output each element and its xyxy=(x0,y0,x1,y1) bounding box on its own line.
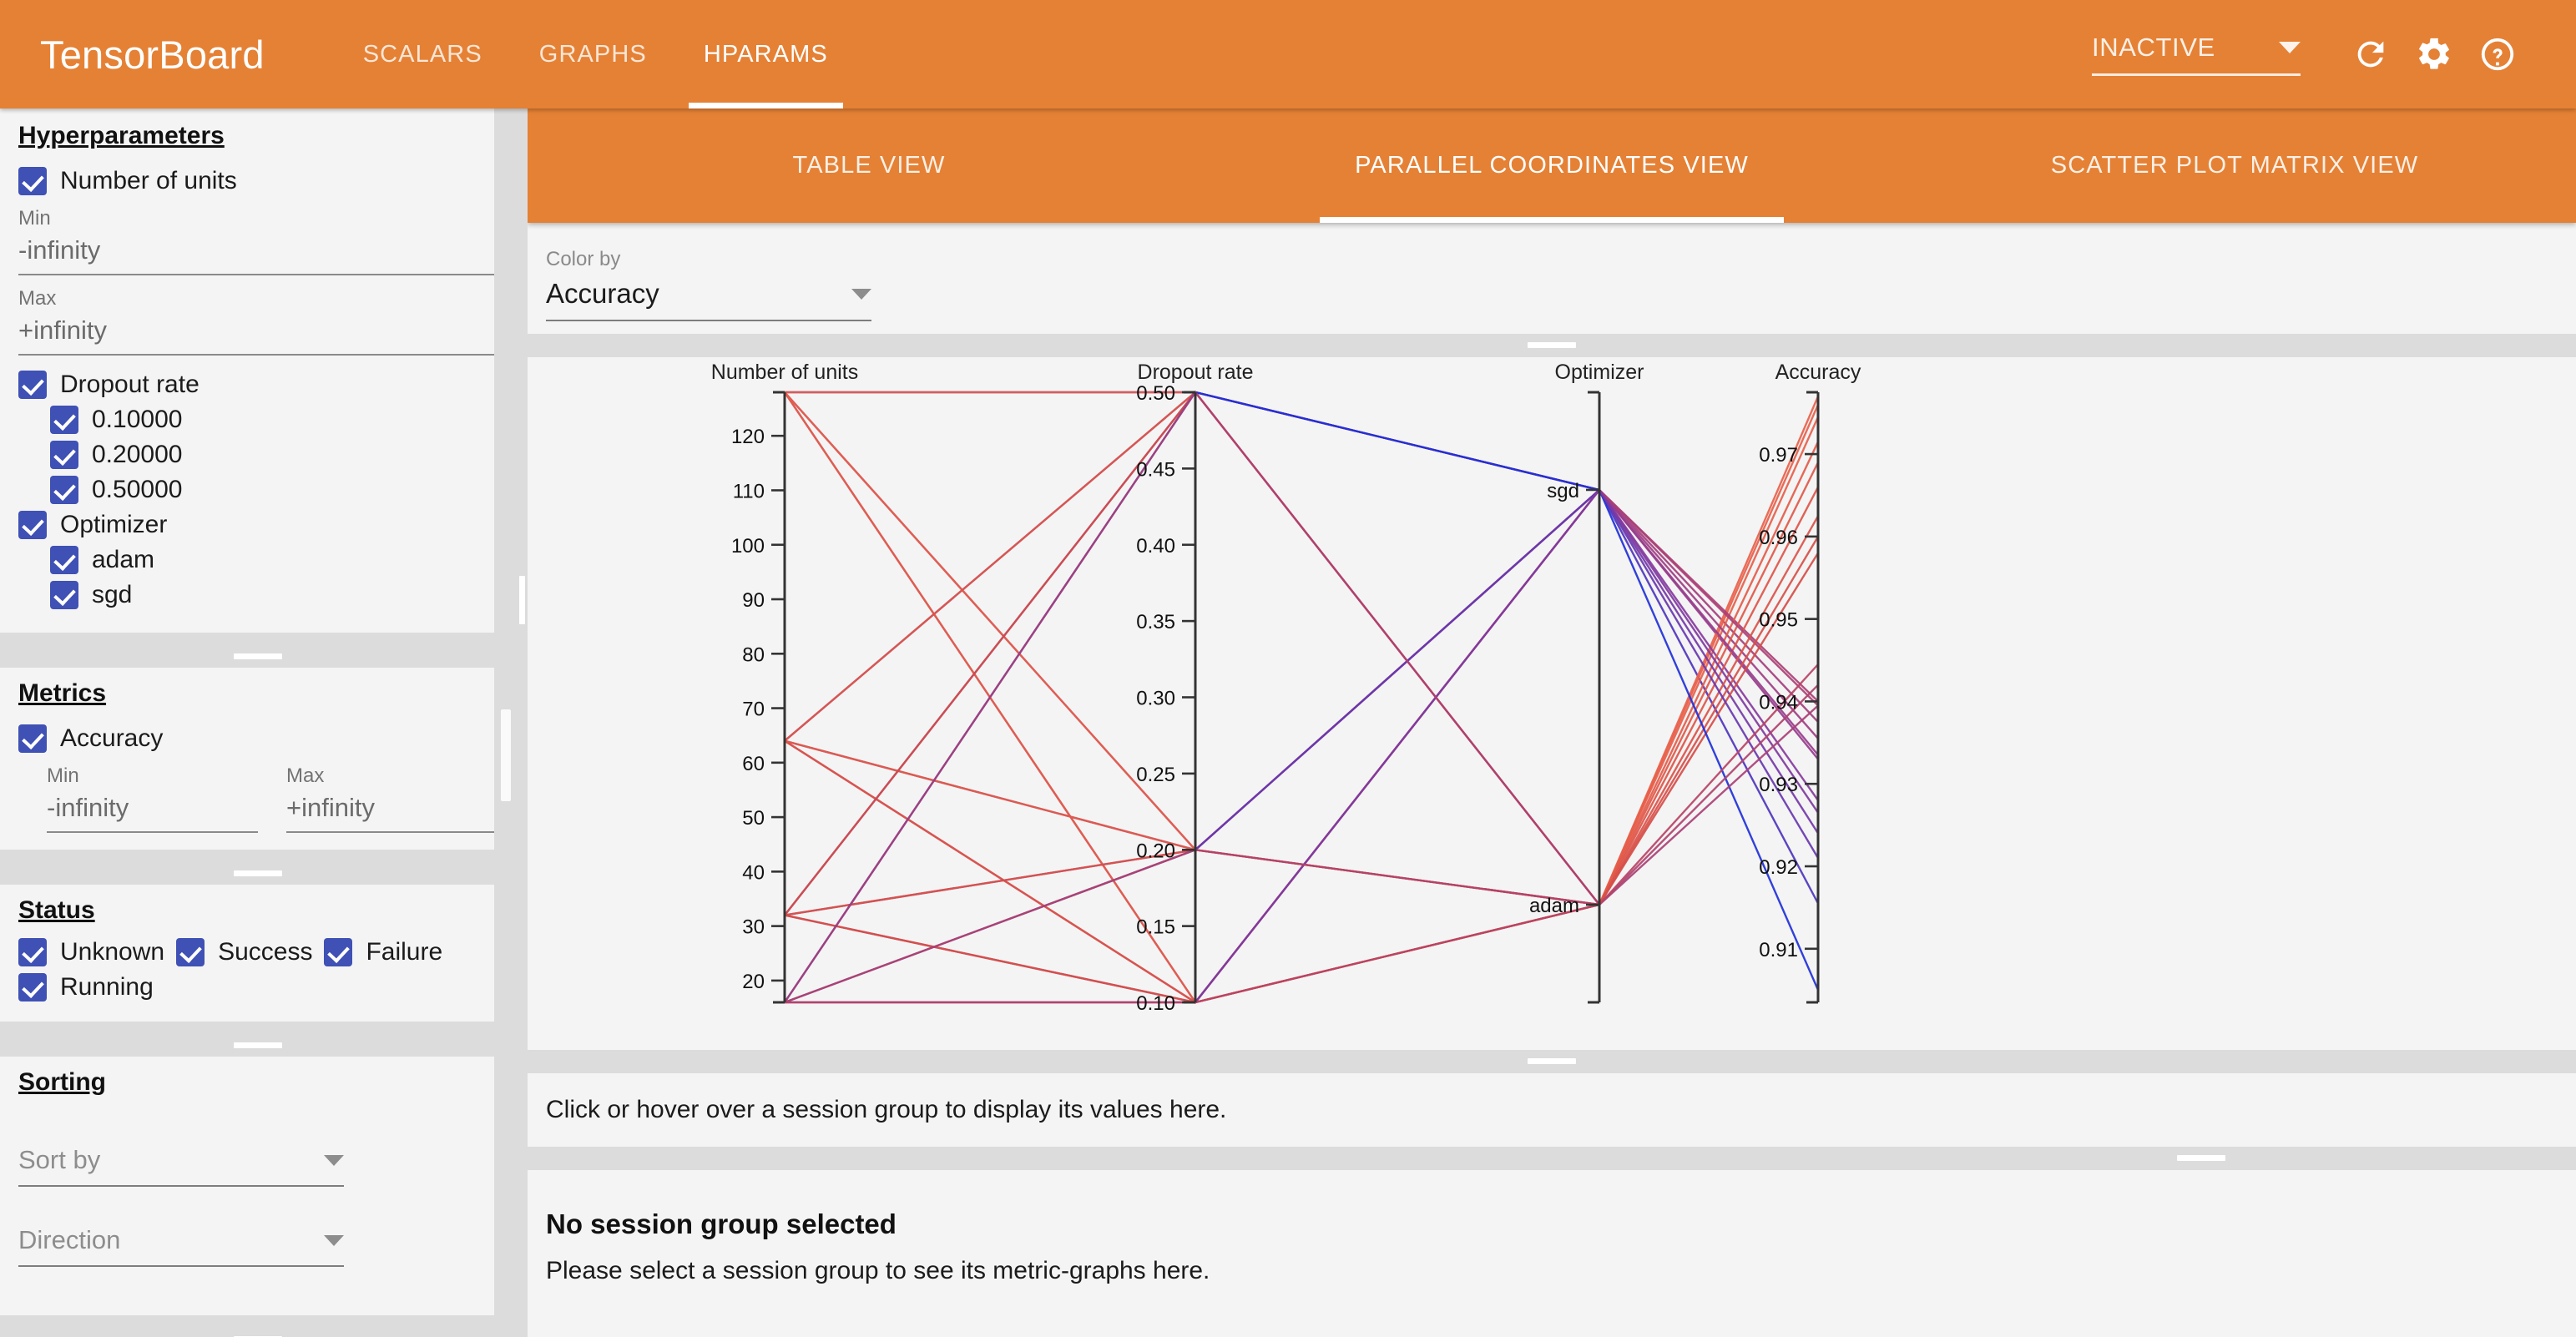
chevron-down-icon xyxy=(324,1155,344,1166)
label-number-of-units: Number of units xyxy=(60,167,237,195)
units-min-input[interactable]: -infinity xyxy=(18,235,498,275)
drag-handle-bar xyxy=(234,653,282,659)
axis-tick-label: 0.97 xyxy=(1759,444,1798,467)
axis-tick-label: 0.95 xyxy=(1759,609,1798,632)
pcp-line[interactable] xyxy=(785,392,1818,1002)
status-heading: Status xyxy=(18,896,95,925)
session-panel-heading: No session group selected xyxy=(546,1208,2576,1240)
pcp-line[interactable] xyxy=(785,392,1818,916)
hover-hint-text: Click or hover over a session group to d… xyxy=(546,1096,1226,1124)
checkbox-metric-accuracy[interactable] xyxy=(18,724,47,753)
axis-tick-label: 0.40 xyxy=(1136,535,1175,558)
axis-tick-label: 50 xyxy=(742,807,765,830)
drag-handle-bar xyxy=(519,576,525,624)
axis-tick-label: 0.91 xyxy=(1759,939,1798,961)
checkbox-dropout-0.20000[interactable] xyxy=(50,441,78,469)
label-metric-accuracy: Accuracy xyxy=(60,724,163,753)
pcp-line[interactable] xyxy=(785,392,1818,1002)
drag-handle-bar xyxy=(1528,1058,1576,1064)
sidebar-main-splitter[interactable] xyxy=(516,108,528,1337)
color-by-select[interactable]: Accuracy xyxy=(546,278,871,321)
pcp-line[interactable] xyxy=(785,392,1818,904)
hparam-optimizer-row[interactable]: Optimizer xyxy=(18,511,498,539)
axis-tick-label: 70 xyxy=(742,699,765,721)
primary-nav-tabs: SCALARS GRAPHS HPARAMS xyxy=(335,0,856,108)
checkbox-optimizer[interactable] xyxy=(18,511,47,539)
status-card: Status Unknown Success Failure Running xyxy=(0,885,516,1022)
checkbox-dropout-0.10000[interactable] xyxy=(50,406,78,434)
accuracy-min-label: Min xyxy=(47,764,258,788)
parallel-coordinates-svg[interactable]: Number of units2030405060708090100110120… xyxy=(528,357,2576,1050)
filter-sidebar: Hyperparameters Number of units Min -inf… xyxy=(0,108,516,1337)
run-status-value: INACTIVE xyxy=(2092,33,2215,63)
color-by-card: Color by Accuracy xyxy=(528,223,2576,334)
label-status-unknown: Unknown xyxy=(60,938,164,966)
sidebar-scrollbar-thumb[interactable] xyxy=(501,709,511,801)
checkbox-dropout-rate[interactable] xyxy=(18,371,47,399)
axis-tick-label: 0.92 xyxy=(1759,856,1798,879)
pcp-line[interactable] xyxy=(785,685,1818,1002)
label-optimizer: Optimizer xyxy=(60,511,167,539)
axis-tick-label: 100 xyxy=(731,535,765,558)
tab-scatter-plot-matrix-view[interactable]: SCATTER PLOT MATRIX VIEW xyxy=(1893,108,2576,223)
checkbox-optimizer-adam[interactable] xyxy=(50,546,78,574)
sidebar-resize-handle-sorting[interactable] xyxy=(0,1327,516,1337)
sidebar-resize-handle-status[interactable] xyxy=(0,1033,516,1057)
drag-handle-bar xyxy=(234,870,282,876)
color-by-value: Accuracy xyxy=(546,278,659,310)
axis-tick-label: 60 xyxy=(742,753,765,775)
checkbox-status-success[interactable] xyxy=(176,938,205,966)
sorting-heading: Sorting xyxy=(18,1068,106,1097)
plot-resize-handle-bottom[interactable] xyxy=(528,1050,2576,1073)
tab-table-view[interactable]: TABLE VIEW xyxy=(528,108,1210,223)
status-item-success[interactable]: Success xyxy=(176,938,312,966)
axis-tick-label: 0.45 xyxy=(1136,458,1175,481)
label-status-failure: Failure xyxy=(366,938,442,966)
nav-tab-hparams[interactable]: HPARAMS xyxy=(675,0,856,108)
hparam-number-of-units-row[interactable]: Number of units xyxy=(18,167,498,195)
settings-button[interactable] xyxy=(2402,23,2466,86)
accuracy-range-fields: Min -infinity Max +infinity xyxy=(18,764,498,833)
axis-tick-label: 0.25 xyxy=(1136,764,1175,786)
optimizer-value-row[interactable]: sgd xyxy=(18,581,498,609)
top-bar-actions: INACTIVE xyxy=(2092,23,2529,86)
axis-tick-label: 110 xyxy=(733,480,765,502)
refresh-button[interactable] xyxy=(2339,23,2402,86)
optimizer-value-row[interactable]: adam xyxy=(18,546,498,574)
axis-tick-label: 120 xyxy=(731,426,765,448)
accuracy-max-field[interactable]: Max +infinity xyxy=(286,764,498,833)
hyperparameters-card: Hyperparameters Number of units Min -inf… xyxy=(0,108,516,633)
pcp-line[interactable] xyxy=(785,392,1818,905)
pcp-line[interactable] xyxy=(785,392,1818,905)
axis-tick-label: 0.96 xyxy=(1759,527,1798,549)
pcp-line[interactable] xyxy=(785,392,1818,916)
axis-tick-label: 0.93 xyxy=(1759,774,1798,796)
axis-title: Number of units xyxy=(711,361,858,384)
checkbox-status-running[interactable] xyxy=(18,973,47,1001)
axis-title: Dropout rate xyxy=(1138,361,1254,384)
units-min-field[interactable]: Min -infinity xyxy=(18,207,498,275)
accuracy-min-field[interactable]: Min -infinity xyxy=(47,764,258,833)
axis-tick-label: 80 xyxy=(742,643,765,666)
sidebar-scrollbar-track[interactable] xyxy=(494,108,516,1337)
direction-select[interactable]: Direction xyxy=(18,1225,344,1267)
label-dropout-0.10000: 0.10000 xyxy=(92,406,182,434)
pcp-axis[interactable]: Dropout rate0.100.150.200.250.300.350.40… xyxy=(1136,361,1253,1015)
label-optimizer-adam: adam xyxy=(92,546,154,574)
units-max-field[interactable]: Max +infinity xyxy=(18,287,498,356)
label-status-success: Success xyxy=(218,938,312,966)
axis-title: Accuracy xyxy=(1775,361,1861,384)
metrics-card: Metrics Accuracy Min -infinity Max +infi… xyxy=(0,668,516,850)
label-status-running: Running xyxy=(60,973,154,1001)
drag-handle-bar xyxy=(1528,342,1576,348)
axis-tick-label: 0.50 xyxy=(1136,382,1175,405)
axis-tick-label: 0.15 xyxy=(1136,916,1175,939)
gear-icon xyxy=(2415,35,2453,73)
chevron-down-icon xyxy=(324,1235,344,1246)
help-button[interactable] xyxy=(2466,23,2529,86)
axis-tick-label: 90 xyxy=(742,589,765,612)
label-dropout-rate: Dropout rate xyxy=(60,371,200,399)
app-title: TensorBoard xyxy=(40,32,265,78)
main-content: TABLE VIEW PARALLEL COORDINATES VIEW SCA… xyxy=(528,108,2576,1337)
axis-tick-label: 0.10 xyxy=(1136,992,1175,1015)
pcp-line[interactable] xyxy=(785,392,1818,1002)
help-icon xyxy=(2478,35,2517,73)
checkbox-status-unknown[interactable] xyxy=(18,938,47,966)
sidebar-resize-handle-metrics[interactable] xyxy=(0,861,516,885)
tab-parallel-coordinates-view[interactable]: PARALLEL COORDINATES VIEW xyxy=(1210,108,1893,223)
nav-tab-graphs[interactable]: GRAPHS xyxy=(511,0,675,108)
sidebar-resize-handle-hparams[interactable] xyxy=(0,644,516,668)
pcp-line[interactable] xyxy=(785,392,1818,905)
label-optimizer-sgd: sgd xyxy=(92,581,132,609)
session-panel-body: Please select a session group to see its… xyxy=(546,1257,2576,1285)
tensorboard-app: TensorBoard SCALARS GRAPHS HPARAMS INACT… xyxy=(0,0,2576,1337)
refresh-icon xyxy=(2351,35,2390,73)
accuracy-max-label: Max xyxy=(286,764,498,788)
axis-tick-label: 0.94 xyxy=(1759,691,1798,714)
axis-title: Optimizer xyxy=(1555,361,1644,384)
axis-tick-label: sgd xyxy=(1547,480,1579,502)
axis-tick-label: adam xyxy=(1529,895,1579,917)
session-panel-resize-handle[interactable] xyxy=(528,1147,2576,1170)
pcp-axis[interactable]: Optimizeradamsgd xyxy=(1529,361,1644,1002)
accuracy-max-input[interactable]: +infinity xyxy=(286,793,498,833)
nav-tab-scalars[interactable]: SCALARS xyxy=(335,0,511,108)
status-item-failure[interactable]: Failure xyxy=(324,938,442,966)
axis-tick-label: 30 xyxy=(742,916,765,939)
checkbox-dropout-0.50000[interactable] xyxy=(50,476,78,504)
chevron-down-icon xyxy=(2279,42,2301,53)
label-dropout-0.20000: 0.20000 xyxy=(92,441,182,469)
sorting-card: Sorting Sort by Direction xyxy=(0,1057,516,1315)
chevron-down-icon xyxy=(851,289,871,300)
label-dropout-0.50000: 0.50000 xyxy=(92,476,182,504)
pcp-line[interactable] xyxy=(785,664,1818,1002)
hyperparameters-heading: Hyperparameters xyxy=(18,122,225,150)
status-item-unknown[interactable]: Unknown xyxy=(18,938,164,966)
parallel-coordinates-plot[interactable]: Number of units2030405060708090100110120… xyxy=(528,357,2576,1050)
axis-tick-label: 0.20 xyxy=(1136,840,1175,862)
metric-accuracy-row[interactable]: Accuracy xyxy=(18,724,498,753)
run-status-selector[interactable]: INACTIVE xyxy=(2092,33,2301,76)
status-item-running[interactable]: Running xyxy=(18,973,498,1001)
color-by-label: Color by xyxy=(546,248,2576,271)
axis-tick-label: 0.35 xyxy=(1136,611,1175,633)
dropout-value-row[interactable]: 0.50000 xyxy=(18,476,498,504)
units-max-label: Max xyxy=(18,287,498,310)
accuracy-min-input[interactable]: -infinity xyxy=(47,793,258,833)
hparam-dropout-rate-row[interactable]: Dropout rate xyxy=(18,371,498,399)
units-max-input[interactable]: +infinity xyxy=(18,315,498,356)
metrics-heading: Metrics xyxy=(18,679,106,708)
top-app-bar: TensorBoard SCALARS GRAPHS HPARAMS INACT… xyxy=(0,0,2576,108)
plot-resize-handle-top[interactable] xyxy=(528,334,2576,357)
session-group-panel: No session group selected Please select … xyxy=(528,1170,2576,1337)
direction-value: Direction xyxy=(18,1225,120,1255)
checkbox-optimizer-sgd[interactable] xyxy=(50,581,78,609)
pcp-line[interactable] xyxy=(785,516,1818,915)
sort-by-value: Sort by xyxy=(18,1145,100,1175)
drag-handle-bar xyxy=(234,1042,282,1048)
checkbox-number-of-units[interactable] xyxy=(18,167,47,195)
axis-tick-label: 20 xyxy=(742,971,765,993)
axis-tick-label: 0.30 xyxy=(1136,688,1175,710)
checkbox-status-failure[interactable] xyxy=(324,938,352,966)
dropout-value-row[interactable]: 0.20000 xyxy=(18,441,498,469)
session-values-panel: Click or hover over a session group to d… xyxy=(528,1073,2576,1147)
pcp-line[interactable] xyxy=(785,392,1818,1002)
axis-tick-label: 40 xyxy=(742,861,765,884)
drag-handle-bar xyxy=(2177,1155,2225,1161)
status-checkbox-group: Unknown Success Failure Running xyxy=(18,935,498,1005)
sort-by-select[interactable]: Sort by xyxy=(18,1145,344,1187)
view-tabs: TABLE VIEW PARALLEL COORDINATES VIEW SCA… xyxy=(528,108,2576,223)
units-min-label: Min xyxy=(18,207,498,230)
dropout-value-row[interactable]: 0.10000 xyxy=(18,406,498,434)
